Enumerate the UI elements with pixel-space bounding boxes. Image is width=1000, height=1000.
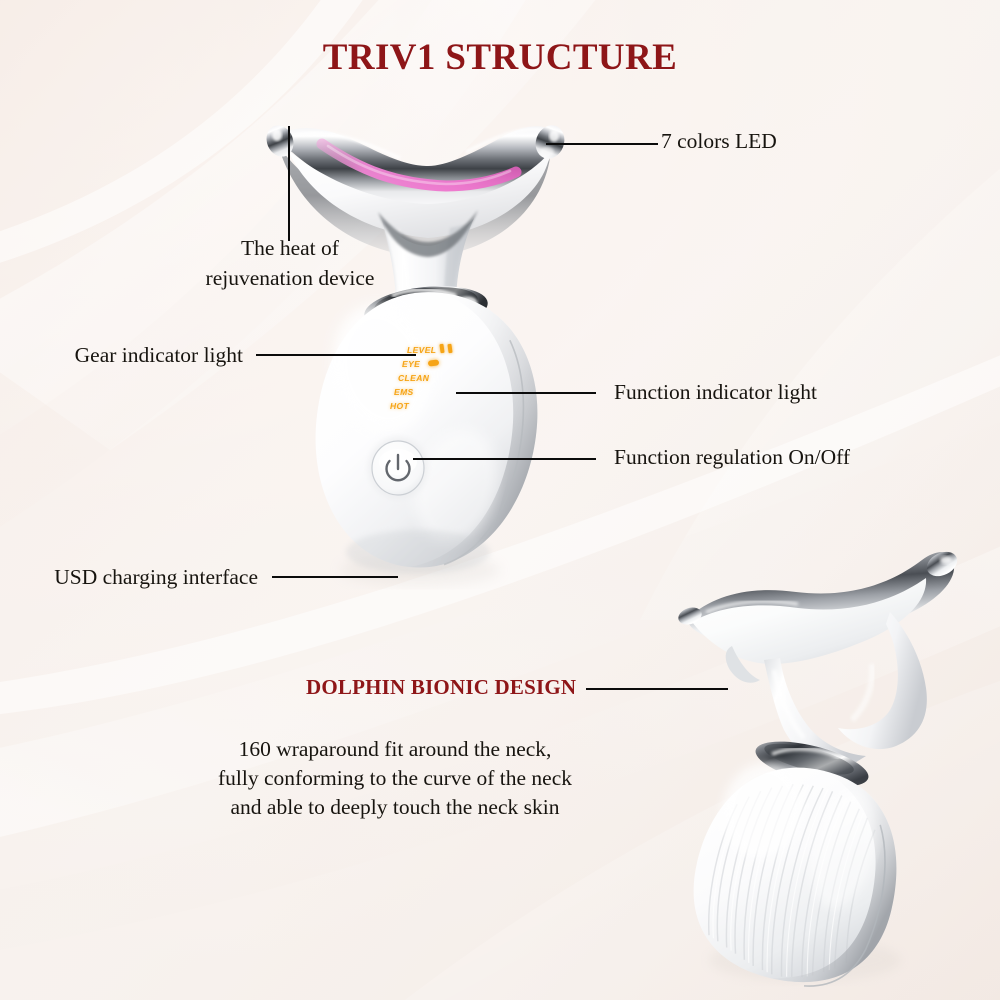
leader-line-function-regulation [413, 458, 596, 460]
leader-line-heat [288, 126, 290, 241]
callout-label-heat-line1: The heat of [180, 235, 400, 261]
leader-line-charging [272, 576, 398, 578]
design-body-line-2: fully conforming to the curve of the nec… [165, 764, 625, 793]
page-title: TRIV1 STRUCTURE [0, 36, 1000, 79]
eye-indicator-pill [428, 359, 440, 366]
callout-label-charging: USD charging interface [10, 564, 258, 590]
callout-label-function-indicator: Function indicator light [614, 379, 817, 405]
indicator-panel: LEVEL EYE CLEAN EMS HOT [407, 345, 497, 415]
indicator-label-eye: EYE [402, 359, 420, 369]
indicator-label-hot: HOT [390, 401, 409, 411]
leader-line-dolphin [586, 688, 728, 690]
power-button[interactable] [358, 428, 438, 508]
product-infographic: TRIV1 STRUCTURE [0, 0, 1000, 1000]
level-bar-2 [447, 344, 452, 353]
leader-line-gear [256, 354, 416, 356]
design-body-line-1: 160 wraparound fit around the neck, [165, 735, 625, 764]
leader-line-led [546, 143, 658, 145]
callout-label-gear: Gear indicator light [20, 342, 243, 368]
design-section-heading: DOLPHIN BIONIC DESIGN [306, 675, 576, 700]
design-body-line-3: and able to deeply touch the neck skin [165, 793, 625, 822]
indicator-label-clean: CLEAN [398, 373, 429, 383]
device-rear-view [640, 520, 980, 990]
leader-line-function-indicator [456, 392, 596, 394]
indicator-label-ems: EMS [394, 387, 414, 397]
callout-label-heat-line2: rejuvenation device [180, 265, 400, 291]
callout-label-led: 7 colors LED [661, 128, 777, 154]
level-bar-1 [439, 344, 444, 353]
callout-label-function-regulation: Function regulation On/Off [614, 444, 850, 470]
